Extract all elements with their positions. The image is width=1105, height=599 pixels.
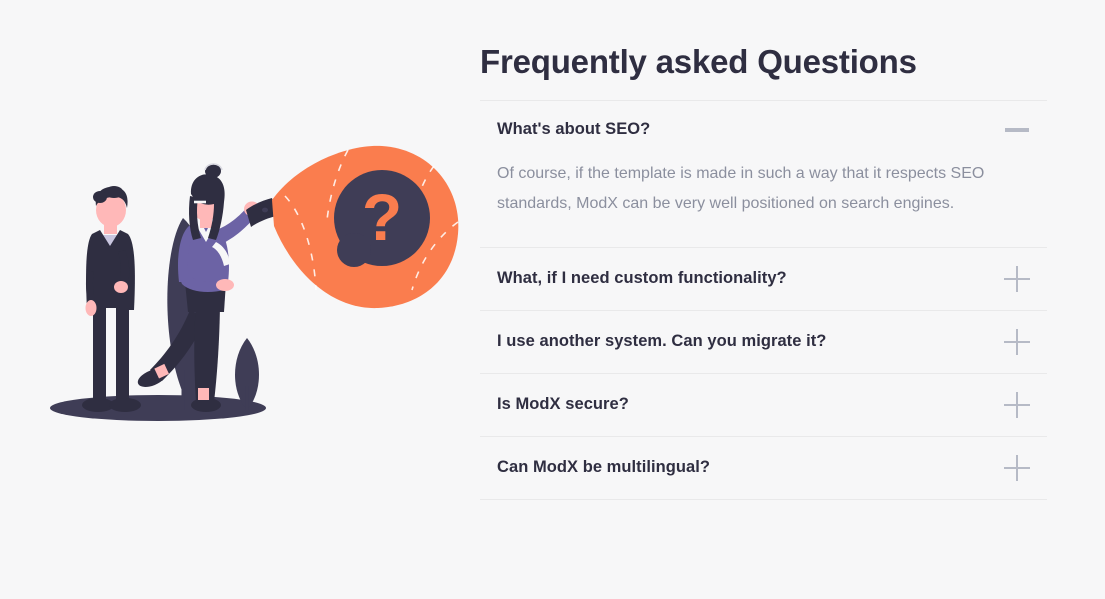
plus-icon[interactable] bbox=[1003, 265, 1031, 293]
faq-item-header-secure[interactable]: Is ModX secure? bbox=[480, 374, 1047, 436]
plus-icon[interactable] bbox=[1003, 454, 1031, 482]
faq-item-header-seo[interactable]: What's about SEO? bbox=[480, 101, 1047, 159]
faq-question-label: Is ModX secure? bbox=[497, 395, 629, 414]
faq-page: ? Frequently asked Questions What's abou… bbox=[0, 0, 1105, 599]
plus-icon[interactable] bbox=[1003, 328, 1031, 356]
person-man-figure bbox=[82, 186, 141, 412]
page-title: Frequently asked Questions bbox=[480, 42, 1047, 82]
faq-item-custom-functionality: What, if I need custom functionality? bbox=[480, 248, 1047, 311]
faq-answer-panel-seo: Of course, if the template is made in su… bbox=[480, 159, 1047, 247]
small-leaf-shape bbox=[235, 338, 259, 410]
ground-shadow-ellipse bbox=[50, 395, 266, 421]
faq-item-seo: What's about SEO? Of course, if the temp… bbox=[480, 101, 1047, 248]
faq-question-label: What, if I need custom functionality? bbox=[497, 269, 787, 288]
question-speech-bubble: ? bbox=[272, 146, 458, 308]
minus-icon[interactable] bbox=[1003, 116, 1031, 144]
faq-item-migrate: I use another system. Can you migrate it… bbox=[480, 311, 1047, 374]
faq-question-label: I use another system. Can you migrate it… bbox=[497, 332, 826, 351]
faq-question-label: Can ModX be multilingual? bbox=[497, 458, 710, 477]
faq-item-multilingual: Can ModX be multilingual? bbox=[480, 437, 1047, 500]
faq-item-header-multilingual[interactable]: Can ModX be multilingual? bbox=[480, 437, 1047, 499]
faq-accordion: What's about SEO? Of course, if the temp… bbox=[480, 100, 1047, 500]
faq-item-header-custom-functionality[interactable]: What, if I need custom functionality? bbox=[480, 248, 1047, 310]
faq-item-secure: Is ModX secure? bbox=[480, 374, 1047, 437]
faq-illustration: ? bbox=[30, 130, 470, 430]
question-mark-glyph: ? bbox=[362, 180, 402, 254]
faq-section: Frequently asked Questions What's about … bbox=[480, 42, 1047, 500]
faq-item-header-migrate[interactable]: I use another system. Can you migrate it… bbox=[480, 311, 1047, 373]
faq-answer-text: Of course, if the template is made in su… bbox=[497, 159, 1027, 219]
faq-question-label: What's about SEO? bbox=[497, 120, 650, 139]
plus-icon[interactable] bbox=[1003, 391, 1031, 419]
